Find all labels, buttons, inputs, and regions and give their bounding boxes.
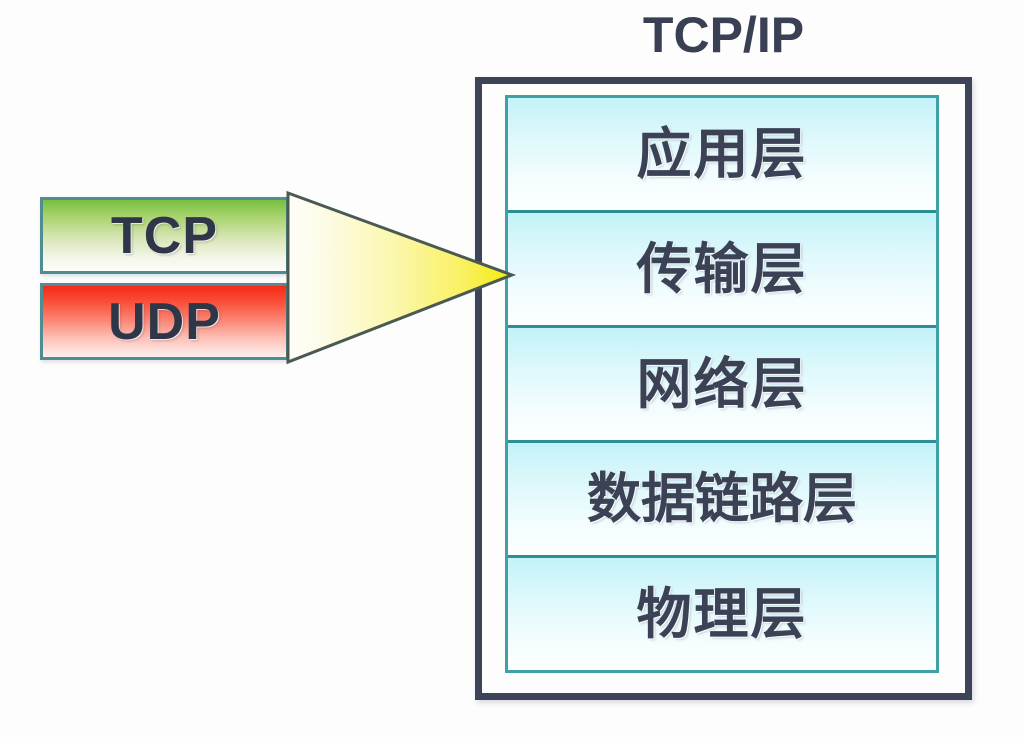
- layer-label-application: 应用层: [636, 127, 807, 182]
- layer-label-physical: 物理层: [636, 587, 807, 642]
- protocol-label-tcp: TCP: [111, 210, 218, 262]
- layer-row-application[interactable]: 应用层: [508, 98, 936, 213]
- layer-label-transport: 传输层: [636, 242, 807, 297]
- protocol-box-tcp[interactable]: TCP: [40, 197, 289, 274]
- layer-label-datalink: 数据链路层: [587, 472, 857, 526]
- layer-row-datalink[interactable]: 数据链路层: [508, 443, 936, 558]
- protocol-label-udp: UDP: [108, 296, 221, 348]
- layer-label-network: 网络层: [636, 357, 807, 412]
- protocol-box-udp[interactable]: UDP: [40, 283, 289, 360]
- diagram-canvas: TCP/IP 应用层 传输层 网络层 数据链路层 物理层 TCP UDP: [0, 0, 1024, 737]
- layer-row-network[interactable]: 网络层: [508, 328, 936, 443]
- page-title: TCP/IP: [475, 4, 972, 66]
- layer-row-transport[interactable]: 传输层: [508, 213, 936, 328]
- layer-stack: 应用层 传输层 网络层 数据链路层 物理层: [505, 95, 939, 673]
- layer-row-physical[interactable]: 物理层: [508, 558, 936, 670]
